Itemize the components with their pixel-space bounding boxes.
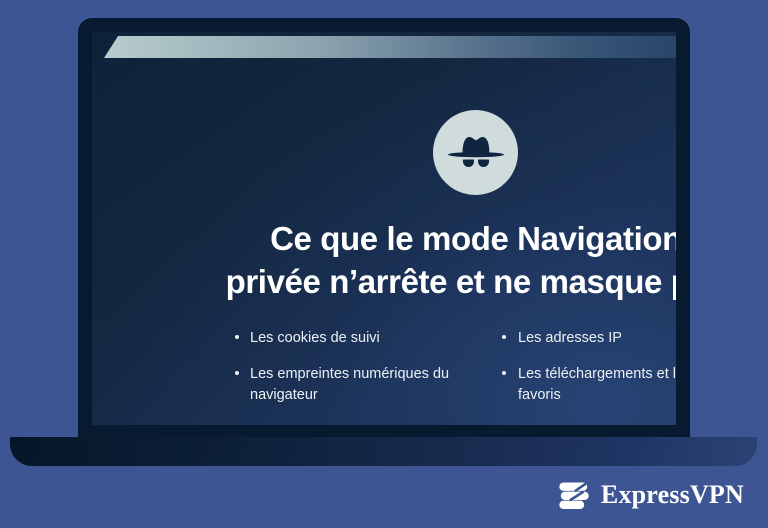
list-item: Les empreintes numériques du navigateur <box>235 364 450 406</box>
list-item-label: Les adresses IP <box>518 330 622 346</box>
list-item: Les téléchargements et les favoris <box>502 364 676 406</box>
page-title-line-2: privée n’arrête et ne masque pas <box>184 261 676 304</box>
bullet-list-left: Les cookies de suivi Les empreintes numé… <box>235 328 450 406</box>
expressvpn-logo: ExpressVPN <box>557 480 744 510</box>
slide-canvas: Ce que le mode Navigation privée n’arrêt… <box>0 0 768 528</box>
bullet-list-right: Les adresses IP Les téléchargements et l… <box>502 328 676 406</box>
list-item-label: Les empreintes numériques du navigateur <box>250 366 449 403</box>
list-item-label: Les cookies de suivi <box>250 330 380 346</box>
bullet-dot-icon <box>235 335 239 339</box>
expressvpn-e-mark-icon <box>557 480 591 510</box>
list-item-label: Les téléchargements et les favoris <box>518 366 676 403</box>
list-item: Les cookies de suivi <box>235 328 450 349</box>
incognito-hat-glasses-icon <box>433 110 518 195</box>
bullet-dot-icon <box>502 335 506 339</box>
bullet-dot-icon <box>502 371 506 375</box>
laptop-base <box>10 437 757 466</box>
screen-glare-band <box>104 36 676 58</box>
expressvpn-wordmark: ExpressVPN <box>601 482 744 508</box>
bullet-lists: Les cookies de suivi Les empreintes numé… <box>184 328 676 406</box>
page-title-line-1: Ce que le mode Navigation <box>184 218 676 261</box>
bullet-dot-icon <box>235 371 239 375</box>
list-item: Les adresses IP <box>502 328 676 349</box>
page-title: Ce que le mode Navigation privée n’arrêt… <box>184 218 676 304</box>
laptop-screen: Ce que le mode Navigation privée n’arrêt… <box>92 32 676 425</box>
